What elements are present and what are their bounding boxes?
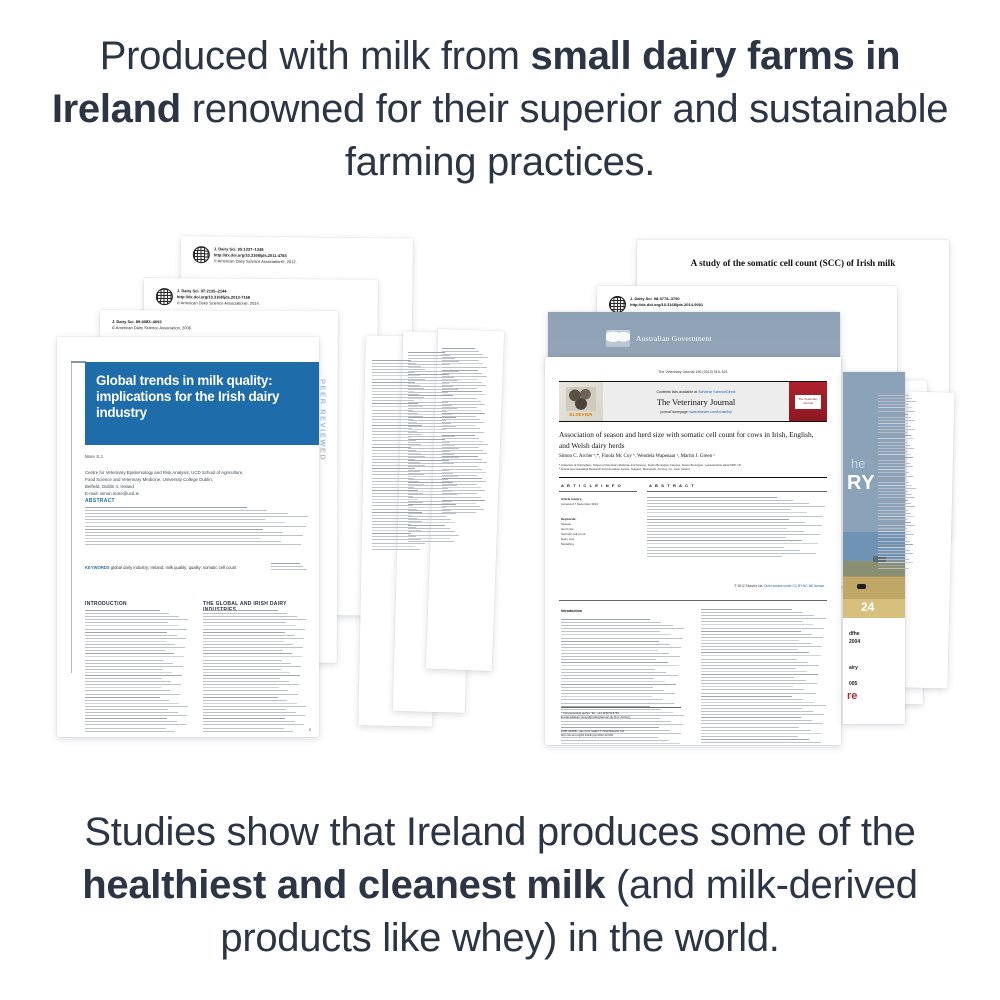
peer-reviewed-label: PEER REVIEWED (319, 379, 328, 461)
introduction-body (85, 610, 189, 734)
journal-mark (271, 563, 311, 572)
jds98-doi-link[interactable]: http://dx.doi.org/10.3168/jds.2014-9001 (630, 302, 703, 308)
citation-block: J. Dairy Sci. 95:1337–1348 http://dx.doi… (214, 246, 297, 265)
dairy-report-word-dairy: RY (847, 472, 875, 495)
vj-article-history-label: Article history: (561, 497, 582, 501)
affiliation-email[interactable]: E-mail: simon.more@ucd.ie (85, 490, 297, 497)
vj-copyright-text: © 2012 Elsevier Ltd. (734, 584, 763, 588)
vj-intro-col-left (561, 619, 685, 745)
top-headline-text-1: Produced with milk from (100, 34, 531, 78)
peer-reviewed-tab: PEER REVIEWED (316, 368, 330, 472)
dairy-report-word-the: he (851, 456, 865, 471)
globe-icon (193, 246, 210, 263)
scc-study-title: A study of the somatic cell count (SCC) … (637, 258, 949, 268)
vj-masthead: ELSEVIER Contents lists available at Sci… (559, 381, 827, 422)
abstract-body (85, 507, 310, 547)
vj-cover-label: The Veterinary Journal (795, 395, 821, 409)
dairy-report-footer: dfhe 2004 airy 005 (849, 630, 860, 688)
australian-government-label: Australian Government (636, 334, 712, 343)
industries-body (203, 610, 307, 734)
vj-abstract-heading: A B S T R A C T (649, 483, 695, 488)
dairy-report-accent-word: re (847, 690, 857, 702)
fan-column-text-4 (878, 392, 916, 571)
vj-introduction-heading: Introduction (561, 609, 582, 613)
poster-canvas: Produced with milk from small dairy farm… (0, 0, 1000, 1000)
vj-running-head: The Veterinary Journal 196 (2013) 515–52… (545, 370, 841, 374)
journal-citation-stamp-2: J. Dairy Sci. 97:2135–2144 http://dx.doi… (156, 288, 260, 307)
journal-citation-stamp-1: J. Dairy Sci. 95:1337–1348 http://dx.doi… (193, 246, 297, 265)
top-headline-text-2: renowned for their superior and sustaina… (181, 87, 948, 184)
globe-icon (609, 296, 626, 313)
dairy-report-footer-a: dfhe (849, 630, 860, 638)
vj-homepage-text: journal homepage: (660, 410, 689, 414)
vj-cover-thumbnail: The Veterinary Journal (789, 382, 827, 421)
vj-masthead-center: Contents lists available at SciVerse Sci… (603, 382, 789, 421)
citation-copyright-2: © American Dairy Science Association®, 2… (177, 300, 260, 307)
citation-block: J. Dairy Sci. 97:2135–2144 http://dx.doi… (177, 288, 260, 307)
vj-homepage-line: journal homepage: www.elsevier.com/locat… (660, 410, 731, 414)
vj-divider-body (559, 600, 827, 601)
affiliation-line-2: Food Science and Veterinary Medicine, Un… (85, 476, 297, 483)
globe-icon (156, 288, 173, 305)
page-rule-horizontal (71, 361, 86, 363)
affiliation-line-1: Centre for Veterinary Epidemiology and R… (85, 469, 297, 476)
vj-corresponding-author: * Corresponding author. Tel.: +44 1159 5… (561, 711, 631, 720)
vj-corresponding-email[interactable]: E-mail address: simon@nottingham.ac.uk (… (561, 715, 631, 719)
paper-affiliation: Centre for Veterinary Epidemiology and R… (85, 469, 297, 498)
abstract-heading: ABSTRACT (85, 498, 115, 504)
page-number: 5 (309, 727, 311, 732)
vj-article-title: Association of season and herd size with… (559, 430, 821, 451)
vj-keywords-list: Season Herd size Somatic cell count Dair… (561, 522, 585, 547)
vj-contents-line: Contents lists available at SciVerse Sci… (656, 390, 735, 394)
citation-copyright-1: © American Dairy Science Association®, 2… (214, 258, 297, 265)
dairy-report-footer-d: 005 (849, 680, 860, 688)
dairy-report-footer-b: 2004 (849, 638, 860, 646)
bottom-headline-emphasis: healthiest and cleanest milk (82, 863, 605, 907)
vj-copyright-note[interactable]: Open access under CC BY-NC-ND license. (764, 584, 825, 588)
top-headline: Produced with milk from small dairy farm… (0, 30, 1000, 190)
journal-citation-stamp-3: J. Dairy Sci. 89:4083–4093 © American Da… (112, 319, 192, 331)
vj-keywords-label: Keywords: (561, 517, 576, 521)
dairy-report-footer-c: airy (849, 664, 860, 672)
paper-author: More S.J. (85, 453, 104, 460)
paper-title-banner: Global trends in milk quality: implicati… (85, 362, 319, 445)
vj-divider-info (559, 491, 637, 492)
vj-divider-abstract (647, 491, 827, 492)
keywords-value: global dairy industry; Ireland; milk qua… (111, 565, 236, 570)
fan-column-text-3 (442, 348, 488, 515)
vj-article-affiliations: ᵃ University of Nottingham, School of Ve… (559, 463, 827, 471)
vj-article-authors: Simon C. Archer ᵃ,*, Finola Mc Coy ᵇ, We… (559, 454, 827, 459)
paper-title: Global trends in milk quality: implicati… (85, 362, 319, 420)
page-rule-vertical (71, 361, 72, 673)
vj-divider-top (559, 477, 827, 478)
introduction-heading: INTRODUCTION (85, 601, 127, 607)
vj-footer-doi[interactable]: http://dx.doi.org/10.1016/j.tvjl.2012.12… (561, 733, 625, 737)
vj-abstract-copyright: © 2012 Elsevier Ltd. Open access under C… (734, 584, 825, 588)
vj-masthead-title: The Veterinary Journal (657, 397, 736, 407)
australian-coat-of-arms-icon (606, 330, 630, 347)
vj-footer: 1090-0233/$ - see front matter © 2012 El… (561, 729, 625, 738)
citation-block: J. Dairy Sci. 98:3778–3790 http://dx.doi… (630, 296, 703, 308)
vj-keyword-4: Modelling (561, 542, 585, 547)
elsevier-wordmark: ELSEVIER (569, 412, 592, 417)
bottom-headline-text-1: Studies show that Ireland produces some … (84, 810, 915, 854)
elsevier-logo: ELSEVIER (559, 382, 603, 421)
vj-contents-text: Contents lists available at (656, 390, 698, 394)
affiliation-line-3: Belfield, Dublin 4, Ireland (85, 483, 297, 490)
journal-citation-stamp-4: J. Dairy Sci. 98:3778–3790 http://dx.doi… (609, 296, 703, 313)
vj-homepage-link[interactable]: www.elsevier.com/locate/tvjl (690, 410, 732, 414)
bottom-headline: Studies show that Ireland produces some … (0, 806, 1000, 966)
vj-abstract-body (647, 497, 827, 559)
vj-footnote-rule (561, 707, 681, 708)
vj-affiliation-b: ᵇ Animal and Grassland Research and Inno… (559, 467, 827, 471)
keywords-label: KEYWORDS (85, 565, 110, 570)
vj-intro-col-right (701, 609, 827, 745)
veterinary-journal-paper[interactable]: The Veterinary Journal 196 (2013) 515–52… (545, 357, 841, 745)
citation-block: J. Dairy Sci. 89:4083–4093 © American Da… (112, 319, 192, 331)
vj-article-info-heading: A R T I C L E I N F O (561, 483, 622, 488)
vj-sciencedirect-link[interactable]: SciVerse ScienceDirect (698, 390, 735, 394)
dairy-report-year: 24 (861, 600, 874, 614)
elsevier-tree-icon (566, 387, 596, 411)
citation-copyright-3: © American Dairy Science Association, 20… (112, 325, 192, 331)
main-paper-global-trends[interactable]: Global trends in milk quality: implicati… (57, 337, 319, 737)
vj-article-history-value: Accepted 7 December 2012 (561, 502, 598, 506)
cow-silhouette-icon (857, 584, 866, 589)
